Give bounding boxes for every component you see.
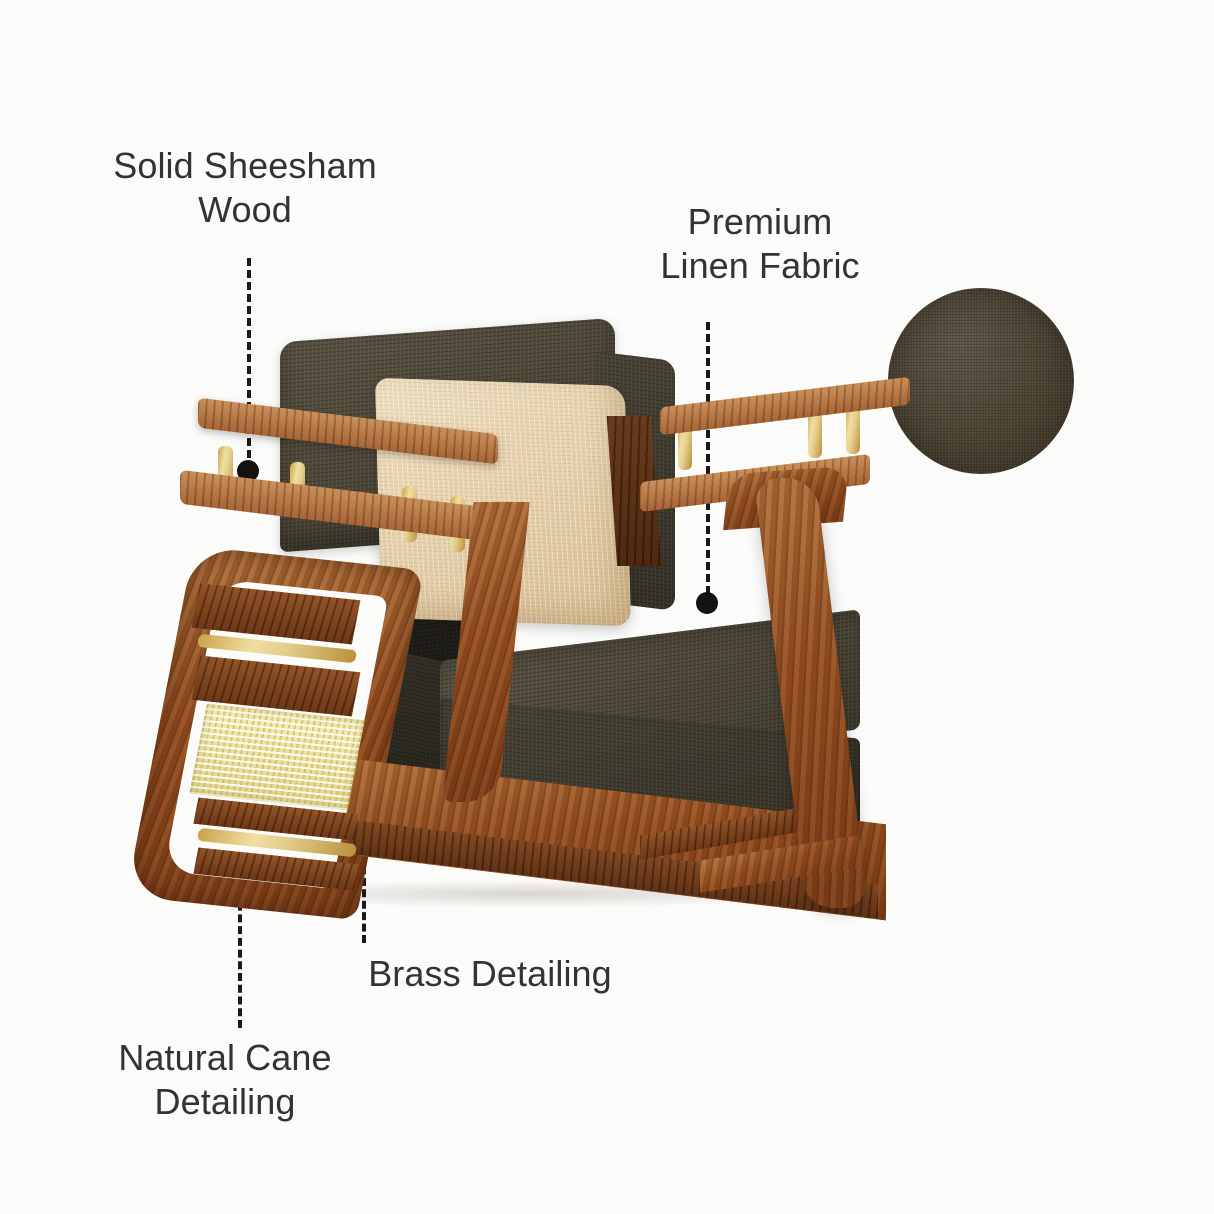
- right-armrest-top-rail: [660, 377, 910, 436]
- linen-fabric-swatch: [888, 288, 1074, 474]
- armchair-illustration: [140, 320, 900, 920]
- leader-line-premium-linen-fabric: [706, 322, 710, 594]
- infographic-canvas: Solid Sheesham Wood Premium Linen Fabric…: [0, 0, 1214, 1214]
- callout-label-brass-detailing: Brass Detailing: [300, 952, 680, 996]
- cane-webbing-panel: [189, 704, 364, 811]
- callout-label-natural-cane-detailing: Natural Cane Detailing: [55, 1036, 395, 1124]
- callout-dot-premium-linen-fabric: [696, 592, 718, 614]
- callout-label-premium-linen-fabric: Premium Linen Fabric: [600, 200, 920, 288]
- callout-label-solid-sheesham-wood: Solid Sheesham Wood: [60, 144, 430, 232]
